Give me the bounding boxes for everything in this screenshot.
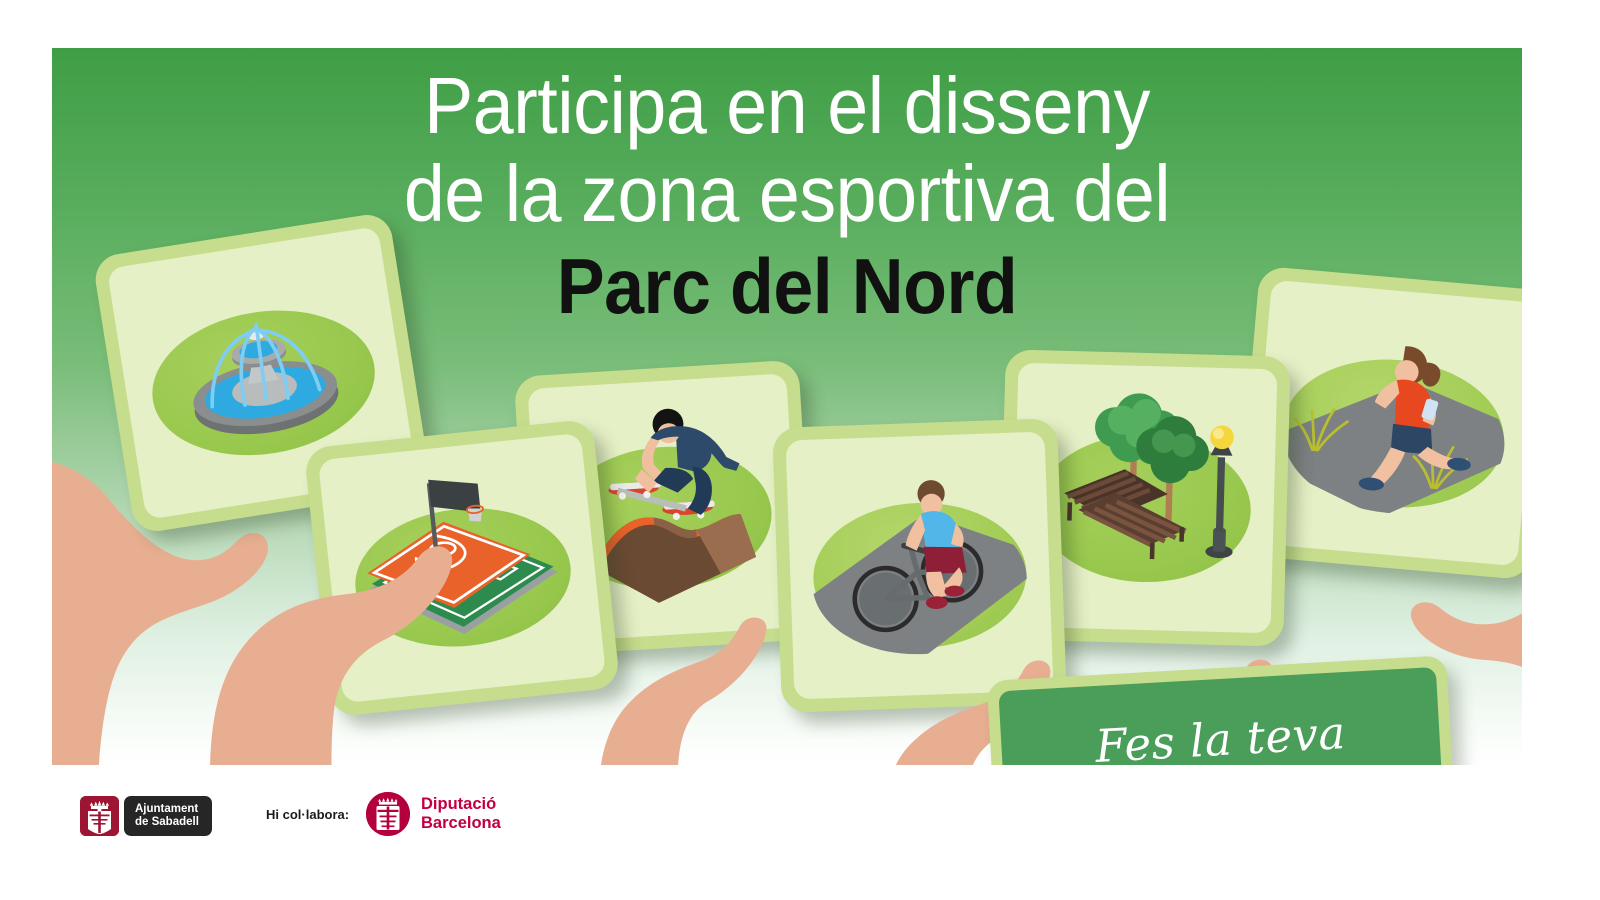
hand-center-left	[532, 528, 832, 765]
logo-ajuntament-text: Ajuntament de Sabadell	[124, 796, 212, 836]
ajuntament-line-2: de Sabadell	[135, 816, 199, 829]
collaborator-label: Hi col·labora:	[266, 807, 349, 822]
logo-diputacio-barcelona[interactable]: Diputació Barcelona	[366, 792, 501, 836]
diputacio-line-1: Diputació	[421, 795, 501, 814]
ajuntament-line-1: Ajuntament	[135, 803, 199, 816]
diputacio-crest-icon	[366, 792, 410, 836]
poster-canvas: Participa en el disseny de la zona espor…	[0, 0, 1600, 900]
hand-left-inner	[172, 448, 492, 765]
diputacio-line-2: Barcelona	[421, 814, 501, 833]
poster-banner: Participa en el disseny de la zona espor…	[52, 48, 1522, 765]
banner-clip: Participa en el disseny de la zona espor…	[52, 48, 1522, 765]
title-line-1: Participa en el disseny	[111, 62, 1463, 150]
sabadell-shield-icon	[80, 796, 119, 836]
cta-sign-face: Fes la teva aportació!	[998, 667, 1445, 765]
cta-text: Fes la teva aportació!	[1000, 700, 1444, 765]
footer-logos: Ajuntament de Sabadell Hi col·labora:	[0, 770, 1600, 900]
logo-ajuntament-sabadell[interactable]: Ajuntament de Sabadell	[80, 796, 212, 836]
logo-diputacio-text: Diputació Barcelona	[421, 795, 501, 833]
